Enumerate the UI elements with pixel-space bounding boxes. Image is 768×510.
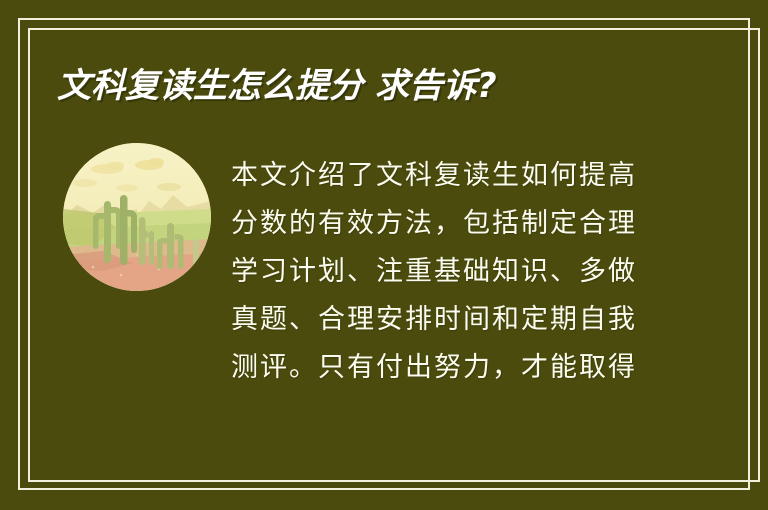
summary-line: 本文介绍了文科复读生如何提高	[231, 152, 651, 200]
summary-line: 分数的有效方法，包括制定合理	[231, 200, 651, 248]
summary-line: 学习计划、注重基础知识、多做	[231, 248, 651, 296]
desert-cactus-illustration-icon	[63, 143, 211, 291]
article-summary: 本文介绍了文科复读生如何提高 分数的有效方法，包括制定合理 学习计划、注重基础知…	[231, 152, 651, 392]
page-title: 文科复读生怎么提分 求告诉?	[57, 66, 497, 106]
summary-line: 真题、合理安排时间和定期自我	[231, 296, 651, 344]
article-card: 文科复读生怎么提分 求告诉?	[0, 0, 768, 510]
summary-line: 测评。只有付出努力，才能取得	[231, 344, 651, 392]
thumbnail-image	[63, 143, 211, 291]
